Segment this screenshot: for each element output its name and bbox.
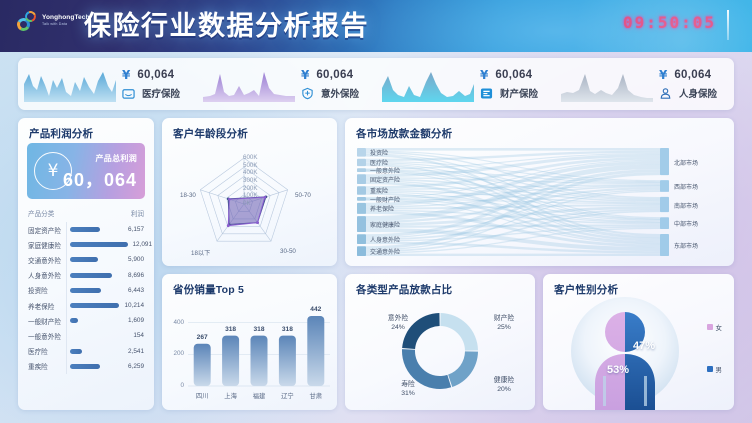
row-value: 154	[120, 332, 144, 339]
row-bar	[70, 257, 98, 262]
gender-female-pct: 53%	[607, 364, 629, 376]
donut-slice-label: 寿险31%	[385, 380, 431, 398]
row-category: 固定资产险	[28, 225, 66, 235]
bar-value-label: 267	[188, 334, 216, 341]
column-header-profit: 利润	[131, 208, 144, 218]
row-bar-cell	[66, 344, 120, 359]
panel-customer-age: 客户年龄段分析 18-3050-7030-5018以下 0K100K200K30…	[162, 118, 337, 266]
sankey-source-label: 一般意外险	[370, 166, 400, 175]
table-row[interactable]: 重疾险6,259	[28, 359, 144, 374]
bar-y-tick: 200	[164, 350, 184, 357]
table-row[interactable]: 一般意外险154	[28, 328, 144, 343]
table-row[interactable]: 交通意外险5,900	[28, 252, 144, 267]
kpi-value: 60,064	[495, 69, 532, 81]
legend-item-male[interactable]: 男	[707, 364, 723, 374]
panel-title: 省份销量Top 5	[173, 282, 244, 297]
bar-y-tick: 400	[164, 319, 184, 326]
donut-slice-label: 健康险20%	[481, 376, 527, 394]
column-header-category: 产品分类	[28, 208, 54, 218]
bar-x-label: 上海	[217, 391, 245, 400]
sankey-target-label: 南部市场	[674, 201, 698, 210]
panel-province-top5: 省份销量Top 5 0200400267四川318上海318福建318辽宁442…	[162, 274, 337, 410]
row-category: 重疾险	[28, 361, 66, 371]
radar-tick-label: 100K	[243, 192, 257, 199]
sankey-chart: 投资险医疗险一般意外险固定资产险重疾险一般财产险养老保险家庭健康险人身意外险交通…	[345, 140, 734, 266]
row-value: 8,696	[120, 272, 144, 279]
total-profit-value: 60，064	[63, 166, 137, 192]
profit-table: 产品分类 利润 固定资产险6,157家庭健康险12,091交通意外险5,900人…	[28, 208, 144, 374]
row-category: 投资险	[28, 285, 66, 295]
kpi-label: 医疗保险	[142, 86, 180, 100]
radar-tick-label: 200K	[243, 185, 257, 192]
brand-logo: YonghongTech Talk with Data	[16, 10, 90, 32]
sankey-source-label: 家庭健康险	[370, 220, 400, 229]
row-value: 6,157	[120, 226, 144, 233]
sankey-source-label: 交通意外险	[370, 247, 400, 256]
row-value: 1,609	[120, 317, 144, 324]
kpi-card-property[interactable]: ¥ 60,064 财产保险	[376, 58, 555, 110]
legend-label-female: 女	[716, 322, 723, 332]
row-category: 交通意外险	[28, 255, 66, 265]
sankey-source-label: 人身意外险	[370, 235, 400, 244]
donut-label-value: 24%	[375, 323, 421, 332]
kpi-label: 财产保险	[500, 86, 538, 100]
panel-market-loan: 各市场放款金额分析 投资险医疗险一般意外险固定资产险重疾险一般财产险养老保险家庭…	[345, 118, 734, 266]
row-bar-cell	[66, 222, 120, 237]
donut-slice-label: 财产险25%	[481, 314, 527, 332]
row-bar	[70, 288, 101, 293]
panel-title: 各市场放款金额分析	[356, 126, 452, 141]
donut-label-text: 财产险	[494, 315, 514, 322]
kpi-card-life[interactable]: ¥ 60,064 人身保险	[555, 58, 734, 110]
radar-tick-label: 0K	[243, 200, 251, 207]
row-bar-cell	[66, 237, 128, 252]
sparkline-chart	[561, 66, 653, 102]
row-bar-cell	[66, 283, 120, 298]
card-icon	[122, 87, 135, 100]
logo-rings-icon	[16, 10, 38, 32]
currency-symbol: ¥	[659, 68, 667, 82]
row-value: 6,259	[120, 363, 144, 370]
logo-name: YonghongTech	[42, 15, 90, 22]
dashboard-root: YonghongTech Talk with Data 保险行业数据分析报告 0…	[0, 0, 752, 423]
bar-value-label: 442	[302, 306, 330, 313]
radar-tick-label: 500K	[243, 162, 257, 169]
sankey-target-label: 中部市场	[674, 219, 698, 228]
currency-symbol: ¥	[301, 68, 309, 82]
kpi-label: 意外保险	[321, 86, 359, 100]
kpi-value: 60,064	[137, 69, 174, 81]
donut-label-text: 健康险	[494, 377, 514, 384]
currency-symbol: ¥	[480, 68, 488, 82]
row-category: 人身意外险	[28, 270, 66, 280]
logo-tagline: Talk with Data	[42, 23, 90, 27]
row-bar	[70, 349, 82, 354]
legend-swatch-female	[707, 324, 713, 330]
row-category: 一般财产险	[28, 316, 66, 326]
radar-axis-label: 18以下	[191, 248, 210, 257]
shield-icon	[301, 87, 314, 100]
row-bar	[70, 227, 100, 232]
bar-y-tick: 0	[164, 382, 184, 389]
row-value: 10,214	[120, 302, 144, 309]
panel-title: 产品利润分析	[29, 126, 93, 141]
donut-label-text: 寿险	[401, 381, 415, 388]
radar-axis-label: 18-30	[180, 192, 196, 199]
clock-display: 09:50:05	[623, 13, 716, 32]
sankey-target-label: 西部市场	[674, 182, 698, 191]
row-value: 12,091	[128, 241, 152, 248]
clock-divider	[727, 10, 729, 40]
total-profit-hero: ¥ 产品总利润 60，064	[27, 143, 145, 199]
sankey-source-label: 养老保险	[370, 204, 394, 213]
sparkline-chart	[382, 66, 474, 102]
row-bar-cell	[66, 313, 120, 328]
row-category: 家庭健康险	[28, 240, 66, 250]
row-bar	[70, 303, 119, 308]
table-header-row: 产品分类 利润	[28, 208, 144, 222]
sankey-source-label: 一般财产险	[370, 195, 400, 204]
row-bar	[70, 242, 128, 247]
row-bar	[70, 318, 78, 323]
sankey-source-label: 投资险	[370, 148, 388, 157]
legend-swatch-male	[707, 366, 713, 372]
row-bar	[70, 364, 100, 369]
bar-x-label: 辽宁	[273, 391, 301, 400]
bar-x-label: 甘肃	[302, 391, 330, 400]
row-category: 养老保险	[28, 301, 66, 311]
table-row[interactable]: 一般财产险1,609	[28, 313, 144, 328]
page-title: 保险行业数据分析报告	[84, 4, 369, 43]
donut-label-value: 31%	[385, 389, 431, 398]
row-bar-cell	[66, 359, 120, 374]
gender-chart: 53% 47% 女 男	[543, 292, 734, 410]
donut-label-text: 意外险	[388, 315, 408, 322]
bar-x-label: 四川	[188, 391, 216, 400]
panel-customer-gender: 客户性别分析	[543, 274, 734, 410]
radar-axis-label: 50-70	[295, 192, 311, 199]
row-value: 6,443	[120, 287, 144, 294]
legend-label-male: 男	[716, 364, 723, 374]
radar-axis-label: 30-50	[280, 248, 296, 255]
panel-product-share: 各类型产品放款占比 财产险25%健康险20%寿险31%意外险24%	[345, 274, 535, 410]
person-icon	[659, 87, 672, 100]
table-row[interactable]: 投资险6,443	[28, 283, 144, 298]
row-bar	[70, 273, 112, 278]
row-category: 一般意外险	[28, 331, 66, 341]
table-row[interactable]: 家庭健康险12,091	[28, 237, 144, 252]
row-value: 5,900	[120, 256, 144, 263]
row-category: 医疗险	[28, 346, 66, 356]
radar-tick-label: 600K	[243, 154, 257, 161]
donut-label-value: 25%	[481, 323, 527, 332]
table-row[interactable]: 固定资产险6,157	[28, 222, 144, 237]
bar-value-label: 318	[245, 326, 273, 333]
radar-chart: 18-3050-7030-5018以下 0K100K200K300K400K50…	[162, 138, 337, 266]
sankey-source-label: 固定资产险	[370, 175, 400, 184]
sparkline-chart	[203, 66, 295, 102]
row-bar-cell	[66, 328, 120, 343]
kpi-card-accident[interactable]: ¥ 60,064 意外保险	[197, 58, 376, 110]
donut-slice-label: 意外险24%	[375, 314, 421, 332]
building-icon	[480, 87, 493, 100]
bar-chart: 0200400267四川318上海318福建318辽宁442甘肃	[162, 296, 337, 410]
dashboard-header: YonghongTech Talk with Data 保险行业数据分析报告 0…	[0, 0, 752, 52]
total-profit-caption: 产品总利润	[96, 153, 138, 164]
donut-label-value: 20%	[481, 385, 527, 394]
sankey-target-label: 北部市场	[674, 158, 698, 167]
radar-tick-label: 300K	[243, 177, 257, 184]
row-bar-cell	[66, 268, 120, 283]
gender-male-pct: 47%	[633, 340, 655, 352]
table-row[interactable]: 养老保险10,214	[28, 298, 144, 313]
legend-item-female[interactable]: 女	[707, 322, 723, 332]
kpi-card-medical[interactable]: ¥ 60,064 医疗保险	[18, 58, 197, 110]
sparkline-chart	[24, 66, 116, 102]
row-value: 2,541	[120, 348, 144, 355]
table-row[interactable]: 人身意外险8,696	[28, 268, 144, 283]
panel-product-profit: 产品利润分析 ¥ 产品总利润 60，064 产品分类 利润 固定资产险6,157…	[18, 118, 154, 410]
kpi-value: 60,064	[316, 69, 353, 81]
kpi-value: 60,064	[674, 69, 711, 81]
sankey-target-label: 东部市场	[674, 241, 698, 250]
radar-tick-label: 400K	[243, 169, 257, 176]
donut-chart: 财产险25%健康险20%寿险31%意外险24%	[345, 294, 535, 410]
table-row[interactable]: 医疗险2,541	[28, 344, 144, 359]
currency-symbol: ¥	[122, 68, 130, 82]
row-bar-cell	[66, 252, 120, 267]
kpi-label: 人身保险	[679, 86, 717, 100]
bar-value-label: 318	[217, 326, 245, 333]
bar-x-label: 福建	[245, 391, 273, 400]
kpi-strip: ¥ 60,064 医疗保险 ¥	[18, 58, 734, 110]
bar-value-label: 318	[273, 326, 301, 333]
row-bar-cell	[66, 298, 120, 313]
